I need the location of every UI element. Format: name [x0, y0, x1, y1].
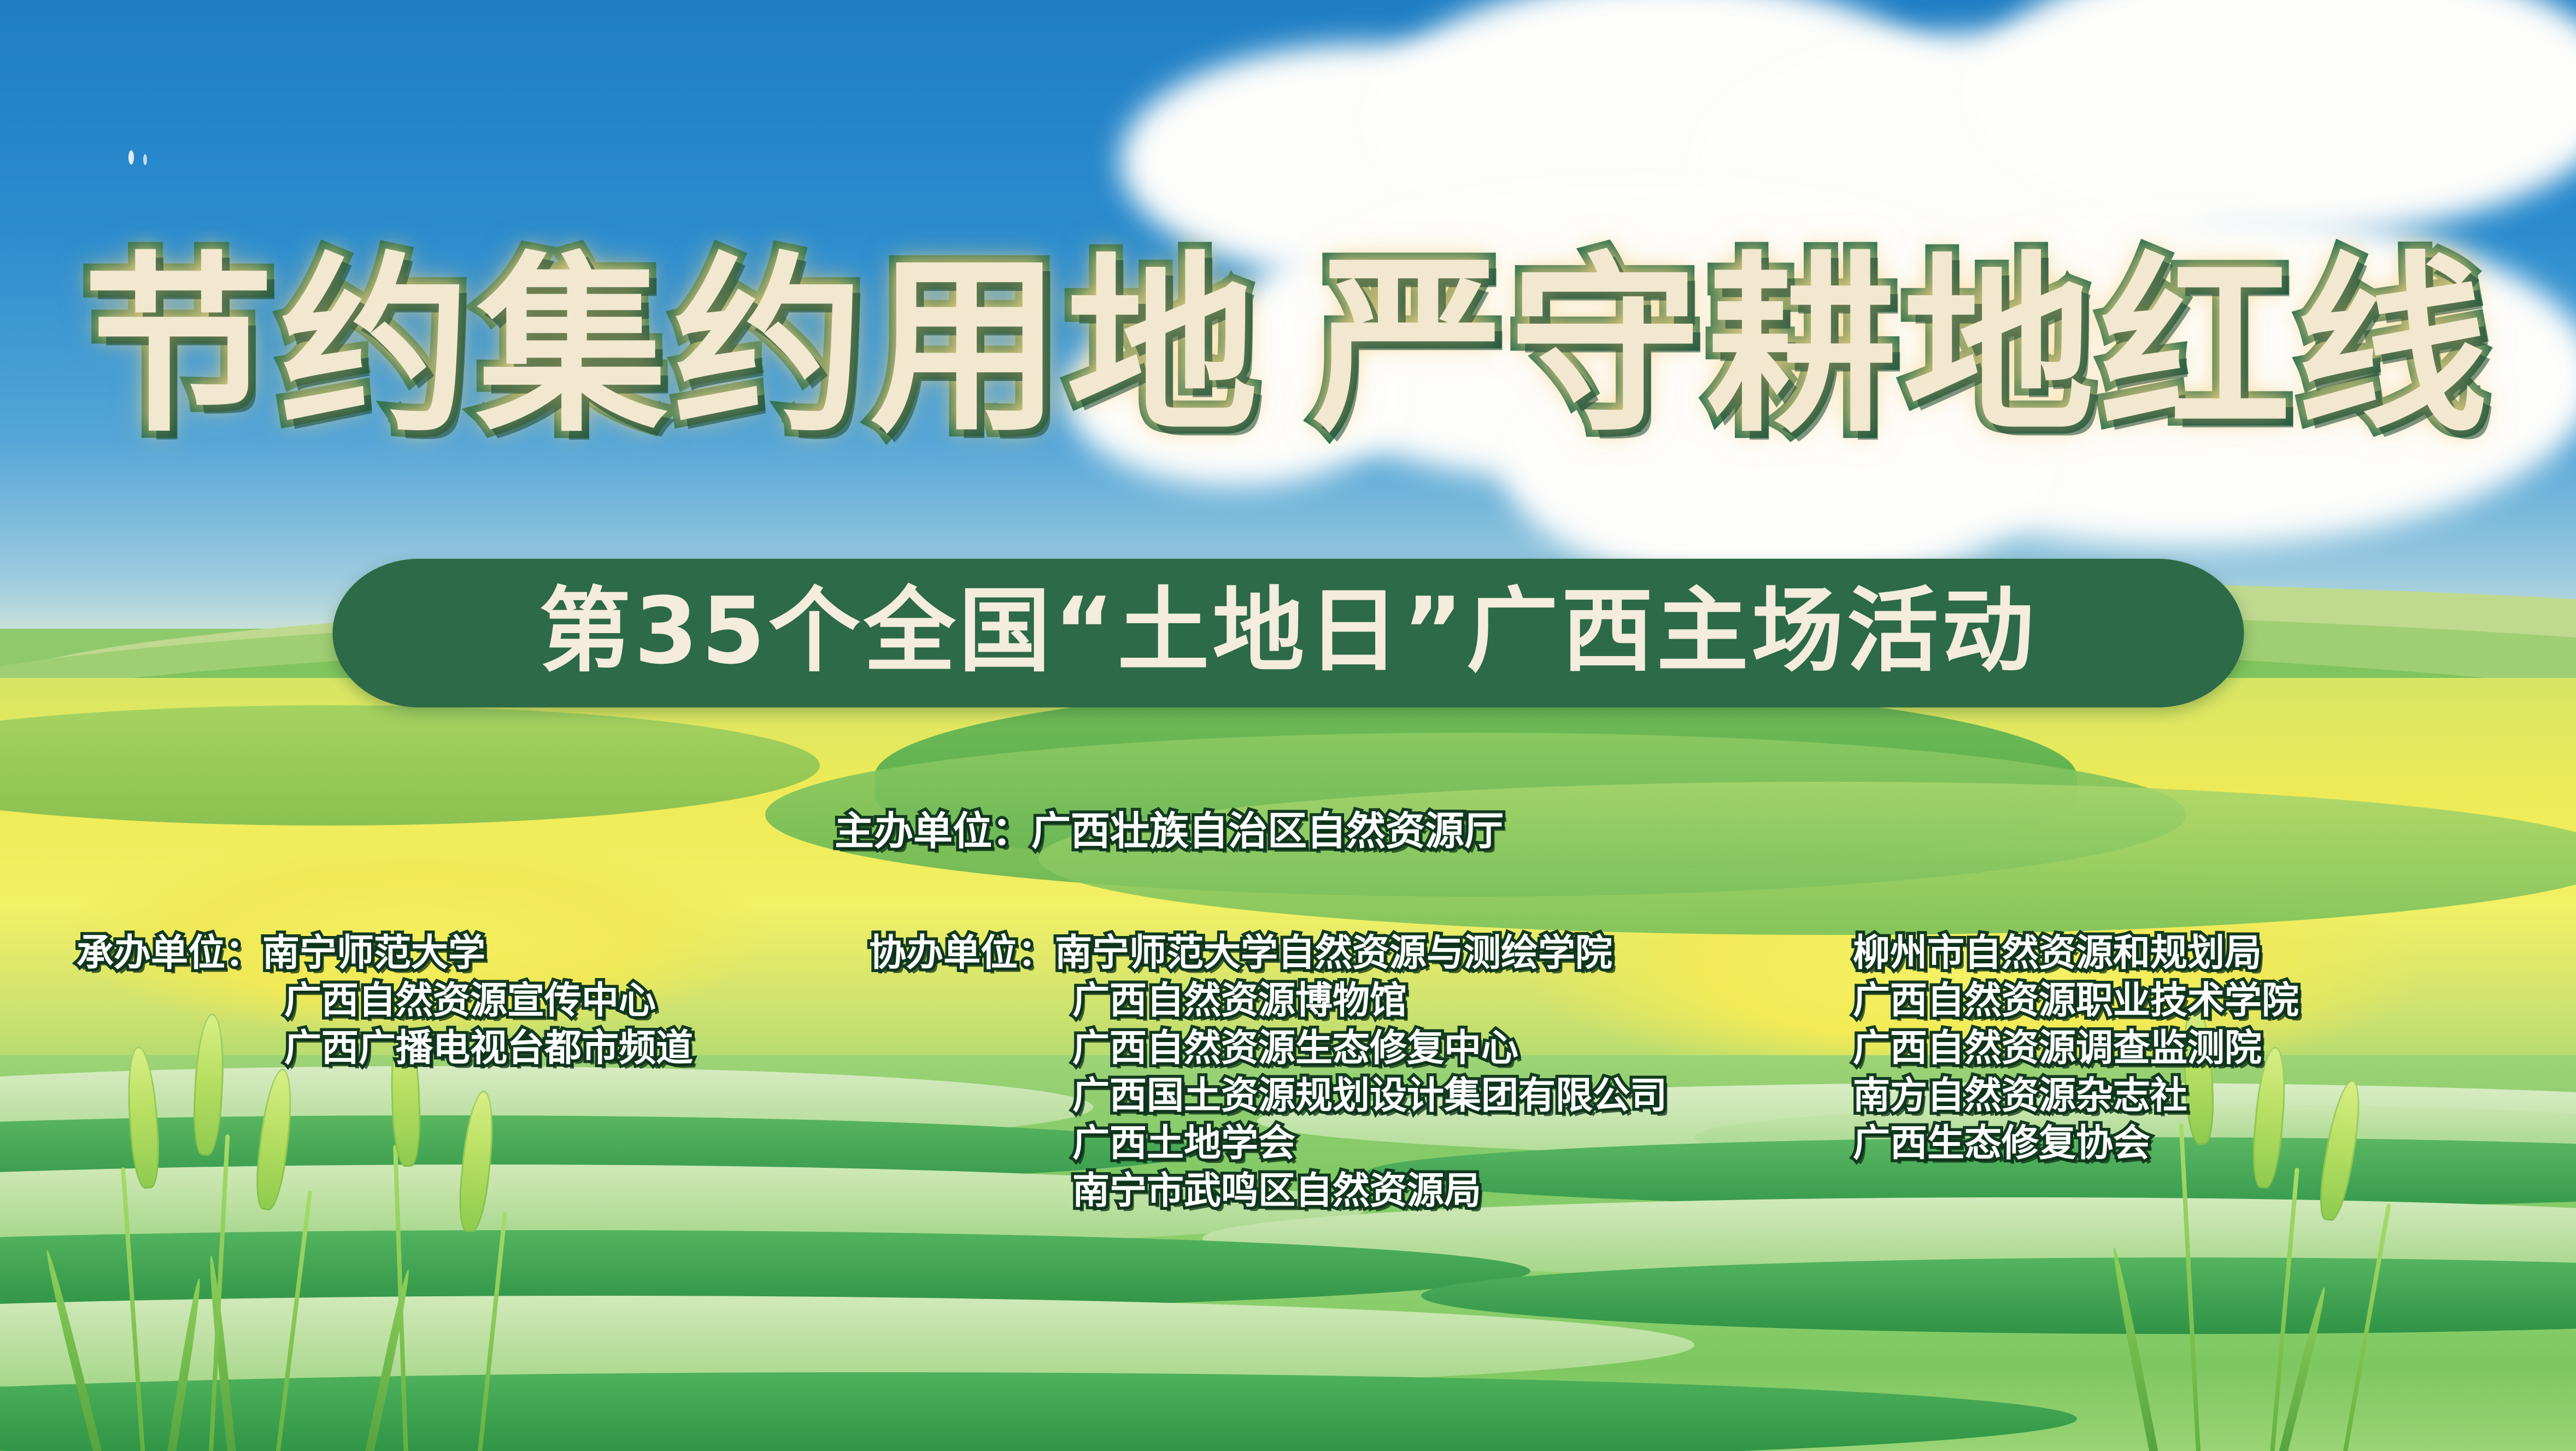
- organizer-item: 南宁师范大学: [262, 932, 485, 975]
- coorganizer-item: 广西自然资源职业技术学院: [1853, 977, 2299, 1025]
- coorganizer-item: 广西国土资源规划设计集团有限公司: [869, 1072, 1667, 1120]
- coorganizer-column: 协办单位：南宁师范大学自然资源与测绘学院 广西自然资源博物馆 广西自然资源生态修…: [869, 929, 1667, 1215]
- coorganizer-item: 广西自然资源调查监测院: [1853, 1025, 2299, 1072]
- sparkle-icon: [143, 154, 147, 165]
- organizer-columns: 承办单位：南宁师范大学 广西自然资源宣传中心 广西广播电视台都市频道 协办单位：…: [0, 929, 2576, 1279]
- coorganizer-item: 柳州市自然资源和规划局: [1853, 929, 2299, 977]
- coorganizer-item: 南宁师范大学自然资源与测绘学院: [1055, 932, 1612, 975]
- coorganizer-column-right: 柳州市自然资源和规划局 广西自然资源职业技术学院 广西自然资源调查监测院 南方自…: [1853, 929, 2299, 1167]
- coorganizer-first-row: 协办单位：南宁师范大学自然资源与测绘学院: [869, 929, 1667, 977]
- organizer-item: 广西自然资源宣传中心: [77, 977, 693, 1025]
- coorganizer-item: 广西生态修复协会: [1853, 1120, 2299, 1167]
- organizer-column: 承办单位：南宁师范大学 广西自然资源宣传中心 广西广播电视台都市频道: [77, 929, 693, 1072]
- coorganizer-item: 广西自然资源博物馆: [869, 977, 1667, 1025]
- sparkle-icon: [128, 150, 134, 165]
- subtitle-text: 第35个全国“土地日”广西主场活动: [539, 585, 2037, 677]
- organizer-label: 承办单位：: [77, 932, 262, 975]
- host-organization-line: 主办单位：广西壮族自治区自然资源厅: [835, 808, 1504, 855]
- organizer-first-row: 承办单位：南宁师范大学: [77, 929, 693, 977]
- main-title-part-2: 严守耕地红线: [1313, 235, 2493, 458]
- coorganizer-item: 南方自然资源杂志社: [1853, 1072, 2299, 1120]
- coorganizer-item: 南宁市武鸣区自然资源局: [869, 1167, 1667, 1215]
- coorganizer-item: 广西自然资源生态修复中心: [869, 1025, 1667, 1072]
- main-title-text: 节约集约用地严守耕地红线: [83, 239, 2493, 454]
- coorganizer-item: 广西土地学会: [869, 1120, 1667, 1167]
- main-title-part-1: 节约集约用地: [83, 235, 1264, 458]
- subtitle-banner: 第35个全国“土地日”广西主场活动: [332, 559, 2244, 707]
- coorganizer-label: 协办单位：: [869, 932, 1055, 975]
- main-title: 节约集约用地严守耕地红线: [0, 239, 2576, 454]
- organizer-item: 广西广播电视台都市频道: [77, 1025, 693, 1072]
- poster-canvas: 节约集约用地严守耕地红线 第35个全国“土地日”广西主场活动 主办单位：广西壮族…: [0, 0, 2576, 1451]
